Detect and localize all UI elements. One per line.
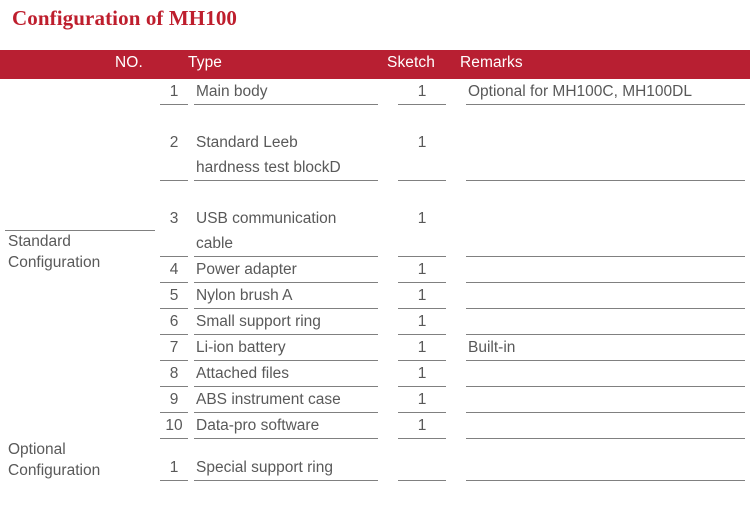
cell-sketch <box>388 439 460 481</box>
cell-type-value: Special support ring <box>194 455 378 481</box>
column-header-type: Type <box>188 54 222 72</box>
cell-no-value: 7 <box>160 335 188 361</box>
group-label-optional-line1: Optional <box>0 439 160 460</box>
cell-no: 9 <box>160 387 188 413</box>
cell-remarks-value <box>466 310 745 335</box>
cell-no: 1 <box>160 439 188 481</box>
cell-remarks <box>460 413 750 439</box>
cell-no-value: 10 <box>160 413 188 439</box>
cell-type: Attached files <box>188 361 388 387</box>
cell-sketch: 1 <box>388 181 460 257</box>
cell-no: 5 <box>160 283 188 309</box>
cell-sketch: 1 <box>388 335 460 361</box>
cell-sketch-value: 1 <box>398 387 446 413</box>
cell-sketch: 1 <box>388 105 460 181</box>
cell-sketch: 1 <box>388 413 460 439</box>
cell-type-line1: USB communication <box>196 206 378 231</box>
cell-remarks <box>460 439 750 481</box>
cell-type: Standard Leeb hardness test blockD <box>188 105 388 181</box>
cell-remarks-value <box>466 414 745 439</box>
cell-remarks <box>460 257 750 283</box>
cell-no-value: 9 <box>160 387 188 413</box>
cell-type: Nylon brush A <box>188 283 388 309</box>
cell-sketch: 1 <box>388 79 460 105</box>
cell-no: 2 <box>160 105 188 181</box>
cell-remarks <box>460 181 750 257</box>
cell-type: Main body <box>188 79 388 105</box>
cell-remarks-value: Optional for MH100C, MH100DL <box>466 79 745 105</box>
cell-sketch: 1 <box>388 361 460 387</box>
cell-type-value: Attached files <box>194 361 378 387</box>
cell-remarks-value <box>466 362 745 387</box>
cell-sketch-value: 1 <box>398 181 446 257</box>
configuration-table: Standard Configuration 1 Main body 1 Opt… <box>0 79 750 481</box>
cell-no: 7 <box>160 335 188 361</box>
column-header-remarks: Remarks <box>460 54 523 72</box>
cell-remarks: Optional for MH100C, MH100DL <box>460 79 750 105</box>
cell-remarks-value <box>466 258 745 283</box>
cell-remarks-value <box>466 388 745 413</box>
cell-remarks <box>460 105 750 181</box>
cell-sketch-value: 1 <box>398 257 446 283</box>
cell-sketch-value: 1 <box>398 105 446 181</box>
cell-sketch-value: 1 <box>398 309 446 335</box>
cell-remarks-value: Built-in <box>466 335 745 361</box>
cell-remarks-value <box>466 456 745 481</box>
cell-type: Li-ion battery <box>188 335 388 361</box>
page-title: Configuration of MH100 <box>12 6 237 31</box>
cell-sketch-value: 1 <box>398 361 446 387</box>
cell-type-line2: hardness test blockD <box>196 155 378 180</box>
cell-type-value: Nylon brush A <box>194 283 378 309</box>
group-label-optional-line2: Configuration <box>0 460 160 481</box>
cell-sketch-value: 1 <box>398 335 446 361</box>
cell-type-value: Data-pro software <box>194 413 378 439</box>
cell-remarks: Built-in <box>460 335 750 361</box>
cell-remarks-value <box>466 207 745 257</box>
cell-type: Special support ring <box>188 439 388 481</box>
group-label-standard-line2: Configuration <box>0 252 160 273</box>
cell-type: Small support ring <box>188 309 388 335</box>
cell-type-value: Small support ring <box>194 309 378 335</box>
cell-remarks <box>460 283 750 309</box>
cell-no: 6 <box>160 309 188 335</box>
cell-no-value: 2 <box>160 105 188 181</box>
cell-no-value: 8 <box>160 361 188 387</box>
cell-no: 4 <box>160 257 188 283</box>
cell-type: USB communication cable <box>188 181 388 257</box>
table-row: Optional Configuration 1 Special support… <box>0 439 750 481</box>
cell-sketch: 1 <box>388 257 460 283</box>
cell-remarks <box>460 309 750 335</box>
cell-no-value: 1 <box>160 455 188 481</box>
cell-sketch: 1 <box>388 283 460 309</box>
cell-no-value: 1 <box>160 79 188 105</box>
cell-remarks <box>460 387 750 413</box>
cell-no: 8 <box>160 361 188 387</box>
cell-type-value: Li-ion battery <box>194 335 378 361</box>
cell-no: 3 <box>160 181 188 257</box>
configuration-table-page: Configuration of MH100 NO. Type Sketch R… <box>0 0 750 508</box>
table-row: Standard Configuration 1 Main body 1 Opt… <box>0 79 750 105</box>
cell-no-value: 3 <box>160 181 188 257</box>
cell-sketch-value: 1 <box>398 283 446 309</box>
cell-remarks-value <box>466 284 745 309</box>
cell-sketch-value <box>398 456 446 481</box>
cell-remarks-value <box>466 131 745 181</box>
cell-remarks <box>460 361 750 387</box>
cell-type-line2: cable <box>196 231 378 256</box>
column-header-sketch: Sketch <box>387 54 435 72</box>
cell-sketch: 1 <box>388 309 460 335</box>
cell-type-value: ABS instrument case <box>194 387 378 413</box>
cell-no: 1 <box>160 79 188 105</box>
cell-sketch-value: 1 <box>398 79 446 105</box>
group-cell-optional: Optional Configuration <box>0 439 160 481</box>
cell-type: Power adapter <box>188 257 388 283</box>
cell-no-value: 5 <box>160 283 188 309</box>
cell-no-value: 6 <box>160 309 188 335</box>
cell-sketch-value: 1 <box>398 413 446 439</box>
group-cell-standard: Standard Configuration <box>0 79 160 439</box>
cell-sketch: 1 <box>388 387 460 413</box>
cell-no-value: 4 <box>160 257 188 283</box>
cell-type-line1: Standard Leeb <box>196 130 378 155</box>
table-header-band: NO. Type Sketch Remarks <box>0 50 750 79</box>
cell-type: ABS instrument case <box>188 387 388 413</box>
cell-type-value: Power adapter <box>194 257 378 283</box>
cell-no: 10 <box>160 413 188 439</box>
cell-type: Data-pro software <box>188 413 388 439</box>
column-header-no: NO. <box>115 54 143 72</box>
group-label-standard-line1: Standard <box>0 231 160 252</box>
cell-type-value: Main body <box>194 79 378 105</box>
